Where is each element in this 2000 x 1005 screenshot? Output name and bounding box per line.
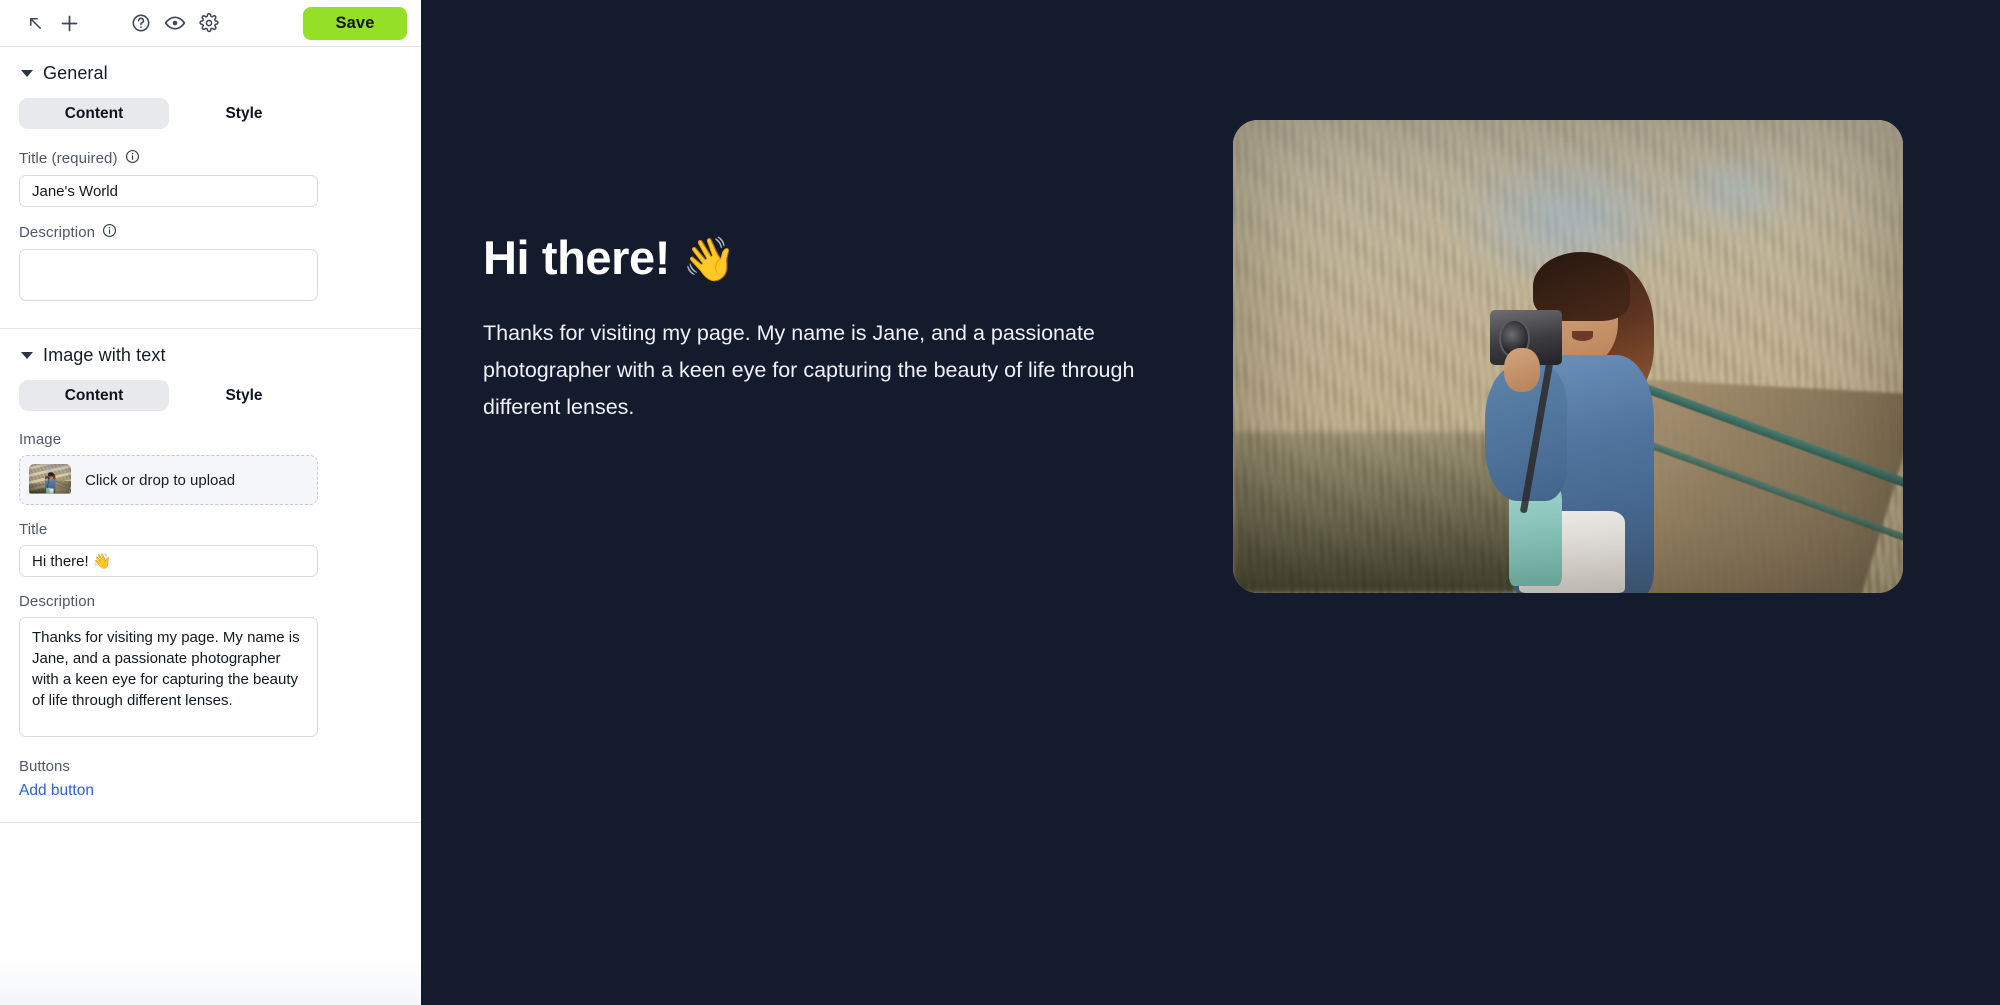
waving-hand-icon: 👋 <box>683 236 736 284</box>
general-description-label-row: Description <box>19 223 402 242</box>
eye-icon[interactable] <box>158 6 192 40</box>
cursor-arrow-icon[interactable] <box>18 6 52 40</box>
buttons-label: Buttons <box>19 758 402 775</box>
section-general: General Content Style Title (required) <box>0 47 421 329</box>
tab-image-style[interactable]: Style <box>169 380 319 411</box>
photo-sky-patch-2 <box>1635 129 1836 252</box>
buttons-field: Buttons Add button <box>19 758 402 800</box>
general-title-input[interactable] <box>19 175 318 207</box>
image-title-field: Title <box>19 521 402 577</box>
general-title-field: Title (required) <box>19 149 402 207</box>
image-label: Image <box>19 431 402 448</box>
save-button[interactable]: Save <box>303 7 407 40</box>
gear-icon[interactable] <box>192 6 226 40</box>
photo-person <box>1461 252 1702 593</box>
general-description-label: Description <box>19 224 95 241</box>
image-upload-field: Image <box>19 431 402 505</box>
preview-canvas: Hi there! 👋 Thanks for visiting my page.… <box>421 0 2000 1005</box>
general-title-label: Title (required) <box>19 150 118 167</box>
image-with-text-tabs: Content Style <box>19 380 402 411</box>
tab-general-style[interactable]: Style <box>169 98 319 129</box>
info-icon[interactable] <box>125 149 140 168</box>
image-description-label: Description <box>19 593 402 610</box>
general-description-field: Description <box>19 223 402 306</box>
hero-heading-text: Hi there! <box>483 231 670 284</box>
add-button-link[interactable]: Add button <box>19 782 94 800</box>
image-title-label: Title <box>19 521 402 538</box>
image-description-textarea[interactable] <box>19 617 318 737</box>
section-general-title: General <box>43 63 108 84</box>
chevron-down-icon <box>21 70 33 77</box>
hero-body-text: Thanks for visiting my page. My name is … <box>483 315 1173 426</box>
section-image-with-text: Image with text Content Style Image <box>0 329 421 823</box>
section-image-with-text-title: Image with text <box>43 345 166 366</box>
editor-root: Save General Content Style Title (requir… <box>0 0 2000 1005</box>
help-circle-icon[interactable] <box>124 6 158 40</box>
tab-image-content[interactable]: Content <box>19 380 169 411</box>
section-general-header[interactable]: General <box>19 63 402 84</box>
image-title-input[interactable] <box>19 545 318 577</box>
preview-content: Hi there! 👋 Thanks for visiting my page.… <box>483 120 1940 593</box>
general-description-textarea[interactable] <box>19 249 318 301</box>
hero-text-block: Hi there! 👋 Thanks for visiting my page.… <box>483 120 1173 426</box>
sidebar-bottom-shadow <box>0 953 421 1005</box>
dropzone-label: Click or drop to upload <box>85 472 235 489</box>
tab-general-content[interactable]: Content <box>19 98 169 129</box>
chevron-down-icon <box>21 352 33 359</box>
photo-person-hand <box>1504 348 1540 392</box>
section-image-with-text-header[interactable]: Image with text <box>19 345 402 366</box>
sidebar-toolbar: Save <box>0 0 421 47</box>
hero-heading: Hi there! 👋 <box>483 232 1173 285</box>
editor-sidebar: Save General Content Style Title (requir… <box>0 0 421 1005</box>
photo-woman-with-camera <box>1233 120 1903 593</box>
hero-image <box>1233 120 1903 593</box>
info-icon[interactable] <box>102 223 117 242</box>
image-description-field: Description <box>19 593 402 742</box>
plus-icon[interactable] <box>52 6 86 40</box>
image-dropzone[interactable]: Click or drop to upload <box>19 455 318 505</box>
image-thumbnail <box>29 464 71 496</box>
general-title-label-row: Title (required) <box>19 149 402 168</box>
general-tabs: Content Style <box>19 98 402 129</box>
